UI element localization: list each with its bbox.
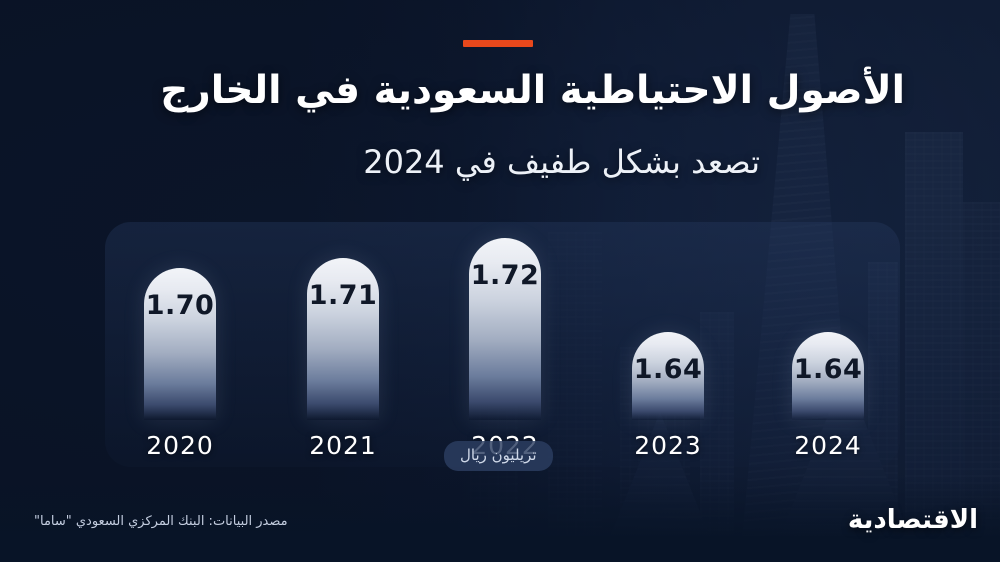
accent-rule xyxy=(463,40,533,47)
bar-2020[interactable]: 1.70 2020 xyxy=(144,268,216,420)
data-source-note: مصدر البيانات: البنك المركزي السعودي "سا… xyxy=(34,514,288,529)
page-subtitle: تصعد بشكل طفيف في 2024 xyxy=(230,143,760,181)
bar-2023[interactable]: 1.64 2023 xyxy=(632,332,704,420)
bar-year-label: 2024 xyxy=(792,431,864,460)
bar-value-label: 1.64 xyxy=(792,354,864,385)
bar-value-label: 1.64 xyxy=(632,354,704,385)
bar-year-label: 2020 xyxy=(144,431,216,460)
infographic-root: الأصول الاحتياطية السعودية في الخارج تصع… xyxy=(0,0,1000,562)
publisher-logo: الاقتصادية xyxy=(848,505,978,535)
page-title: الأصول الاحتياطية السعودية في الخارج xyxy=(75,68,905,114)
bar-year-label: 2023 xyxy=(632,431,704,460)
bar-2024[interactable]: 1.64 2024 xyxy=(792,332,864,420)
bar-value-label: 1.70 xyxy=(144,290,216,321)
bar-year-label: 2021 xyxy=(307,431,379,460)
bar-value-label: 1.72 xyxy=(469,260,541,291)
bar-chart: 1.70 2020 1.71 2021 1.72 2022 1.64 2023 … xyxy=(0,222,1000,467)
bar-2021[interactable]: 1.71 2021 xyxy=(307,258,379,420)
bar-value-label: 1.71 xyxy=(307,280,379,311)
unit-badge: تريليون ريال xyxy=(444,441,553,471)
bar-2022[interactable]: 1.72 2022 xyxy=(469,238,541,420)
bottom-bar xyxy=(0,536,1000,562)
